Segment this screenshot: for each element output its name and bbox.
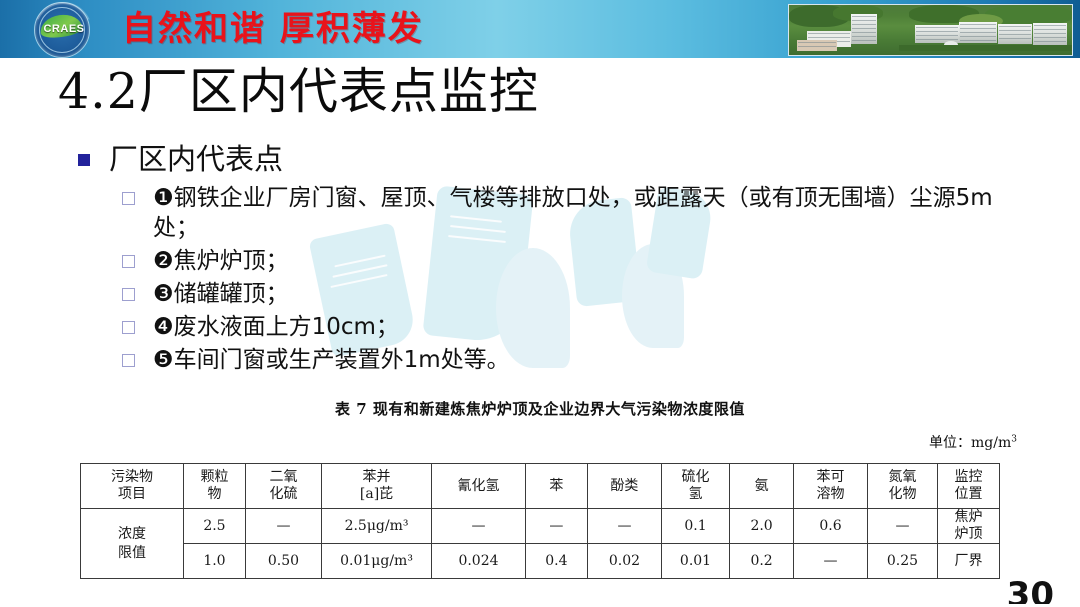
bullet-hollow-square-icon xyxy=(122,255,135,268)
th-line1: 硫化 xyxy=(662,469,729,486)
th-hydrogen-cyanide: 氰化氢 xyxy=(432,464,526,509)
th-line2: 溶物 xyxy=(794,486,867,503)
bullet-hollow-square-icon xyxy=(122,288,135,301)
row-label-concentration-limit: 浓度 限值 xyxy=(81,509,184,579)
cell-nitrogen-oxides: 0.25 xyxy=(867,544,937,579)
table-header: 污染物项目 污染物 项目 颗粒 物 二氧 化硫 苯并 [a]芘 氰化氢 苯 xyxy=(81,464,1000,509)
cell-hydrogen-sulfide: 0.1 xyxy=(661,509,729,544)
table-caption: 表 7 现有和新建炼焦炉炉顶及企业边界大气污染物浓度限值 xyxy=(0,398,1080,419)
th-line1: 监控 xyxy=(938,469,999,486)
th-benzo-a-pyrene: 苯并 [a]芘 xyxy=(321,464,431,509)
pollutant-limits-table: 污染物项目 污染物 项目 颗粒 物 二氧 化硫 苯并 [a]芘 氰化氢 苯 xyxy=(80,463,1000,579)
th-ammonia: 氨 xyxy=(730,464,794,509)
row-label-line1: 浓度 xyxy=(81,525,183,544)
table-row: 浓度 限值 2.5 — 2.5μg/m³ — — — 0.1 2.0 0.6 —… xyxy=(81,509,1000,544)
slide-canvas: CRAES 自然和谐 厚积薄发 4.2厂 xyxy=(0,0,1080,607)
cell-benzene-soluble: — xyxy=(794,544,868,579)
position-line2: 炉顶 xyxy=(938,526,999,543)
th-nitrogen-oxides: 氮氧 化物 xyxy=(867,464,937,509)
th-line2: [a]芘 xyxy=(322,486,431,503)
cell-sulfur-dioxide: 0.50 xyxy=(246,544,322,579)
table-row: 1.0 0.50 0.01μg/m³ 0.024 0.4 0.02 0.01 0… xyxy=(81,544,1000,579)
cell-benzene: 0.4 xyxy=(525,544,587,579)
main-bullet-label: 厂区内代表点 xyxy=(109,142,283,176)
th-line1: 污染物 xyxy=(81,469,183,486)
table-header-row: 污染物项目 污染物 项目 颗粒 物 二氧 化硫 苯并 [a]芘 氰化氢 苯 xyxy=(81,464,1000,509)
cell-hydrogen-cyanide: 0.024 xyxy=(432,544,526,579)
list-item: ❷焦炉炉顶； xyxy=(122,246,1022,276)
th-line2: 位置 xyxy=(938,486,999,503)
list-item: ❸储罐罐顶； xyxy=(122,279,1022,309)
cell-benzo-a-pyrene: 0.01μg/m³ xyxy=(321,544,431,579)
th-line2: 物 xyxy=(184,486,245,503)
list-item: ❶钢铁企业厂房门窗、屋顶、气楼等排放口处，或距露天（或有顶无围墙）尘源5m处； xyxy=(122,183,1022,243)
cell-benzene: — xyxy=(525,509,587,544)
position-line1: 焦炉 xyxy=(938,509,999,526)
cell-benzo-a-pyrene: 2.5μg/m³ xyxy=(321,509,431,544)
list-item-label: ❸储罐罐顶； xyxy=(153,279,289,309)
th-line1: 二氧 xyxy=(246,469,321,486)
th-phenols: 酚类 xyxy=(587,464,661,509)
th-line1: 苯并 xyxy=(322,469,431,486)
sub-bullet-list: ❶钢铁企业厂房门窗、屋顶、气楼等排放口处，或距露天（或有顶无围墙）尘源5m处； … xyxy=(122,183,1022,378)
unit-value: mg/m xyxy=(971,435,1011,451)
list-item-label: ❷焦炉炉顶； xyxy=(153,246,289,276)
th-line1: 苯可 xyxy=(794,469,867,486)
bullet-hollow-square-icon xyxy=(122,354,135,367)
th-benzene: 苯 xyxy=(525,464,587,509)
cell-ammonia: 0.2 xyxy=(730,544,794,579)
list-item-label: ❺车间门窗或生产装置外1m处等。 xyxy=(153,345,510,375)
list-item-label: ❶钢铁企业厂房门窗、屋顶、气楼等排放口处，或距露天（或有顶无围墙）尘源5m处； xyxy=(153,183,1022,243)
th-line1: 氮氧 xyxy=(868,469,937,486)
cell-particulate: 1.0 xyxy=(183,544,245,579)
cell-hydrogen-cyanide: — xyxy=(432,509,526,544)
unit-label: 单位： xyxy=(929,435,971,451)
cell-ammonia: 2.0 xyxy=(730,509,794,544)
table-body: 浓度 限值 2.5 — 2.5μg/m³ — — — 0.1 2.0 0.6 —… xyxy=(81,509,1000,579)
th-line1: 颗粒 xyxy=(184,469,245,486)
bullet-square-icon xyxy=(78,154,90,166)
header-slogan: 自然和谐 厚积薄发 xyxy=(122,9,424,49)
table-unit-note: 单位：mg/m3 xyxy=(929,432,1017,452)
cell-nitrogen-oxides: — xyxy=(867,509,937,544)
logo-text: CRAES xyxy=(38,23,90,35)
th-pollutant-item: 污染物项目 污染物 项目 xyxy=(81,464,184,509)
th-line2: 化物 xyxy=(868,486,937,503)
list-item-label: ❹废水液面上方10cm； xyxy=(153,312,399,342)
th-line2: 项目 xyxy=(81,486,183,503)
cell-phenols: 0.02 xyxy=(587,544,661,579)
th-line2: 化硫 xyxy=(246,486,321,503)
main-bullet-row: 厂区内代表点 xyxy=(78,142,283,176)
header-banner: CRAES 自然和谐 厚积薄发 xyxy=(0,0,1080,58)
th-line2: 氢 xyxy=(662,486,729,503)
cell-benzene-soluble: 0.6 xyxy=(794,509,868,544)
cell-particulate: 2.5 xyxy=(183,509,245,544)
th-hydrogen-sulfide: 硫化 氢 xyxy=(661,464,729,509)
bullet-hollow-square-icon xyxy=(122,321,135,334)
th-sulfur-dioxide: 二氧 化硫 xyxy=(246,464,322,509)
craes-logo: CRAES xyxy=(26,2,112,56)
list-item: ❺车间门窗或生产装置外1m处等。 xyxy=(122,345,1022,375)
bullet-hollow-square-icon xyxy=(122,192,135,205)
page-number: 30 xyxy=(1007,575,1054,607)
cell-phenols: — xyxy=(587,509,661,544)
cell-monitor-position: 焦炉 炉顶 xyxy=(938,509,1000,544)
th-monitor-position: 监控 位置 xyxy=(938,464,1000,509)
page-title: 4.2厂区内代表点监控 xyxy=(58,62,539,122)
th-benzene-soluble: 苯可 溶物 xyxy=(794,464,868,509)
list-item: ❹废水液面上方10cm； xyxy=(122,312,1022,342)
cell-hydrogen-sulfide: 0.01 xyxy=(661,544,729,579)
th-particulate: 颗粒 物 xyxy=(183,464,245,509)
unit-exponent: 3 xyxy=(1011,434,1017,444)
cell-monitor-position: 厂界 xyxy=(938,544,1000,579)
campus-aerial-photo xyxy=(788,4,1073,56)
row-label-line2: 限值 xyxy=(81,544,183,563)
cell-sulfur-dioxide: — xyxy=(246,509,322,544)
